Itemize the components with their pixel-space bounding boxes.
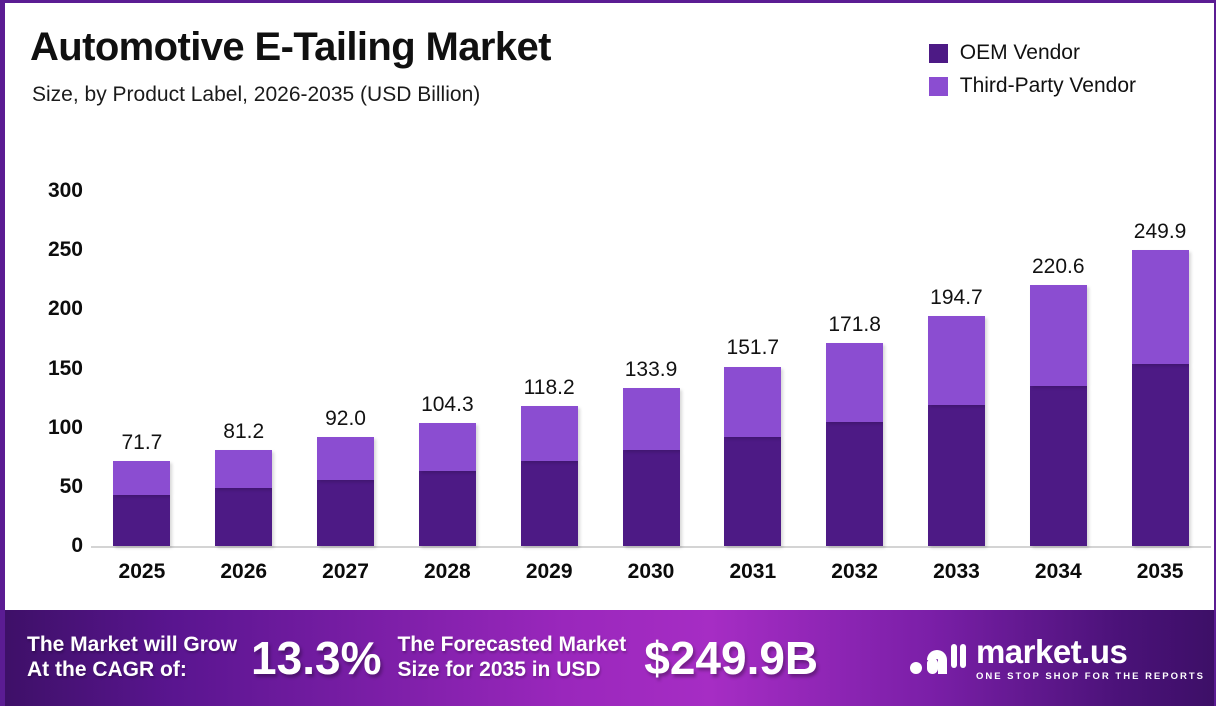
bar-stack[interactable] xyxy=(1030,285,1087,546)
legend-swatch-icon xyxy=(929,77,948,96)
x-axis: 2025202620272028202920302031203220332034… xyxy=(91,550,1211,596)
bar-segment-oem-vendor[interactable] xyxy=(419,471,476,546)
bar-value-label: 71.7 xyxy=(121,431,162,455)
bar-segment-oem-vendor[interactable] xyxy=(317,480,374,546)
bar-segment-oem-vendor[interactable] xyxy=(623,450,680,546)
brand-name: market.us xyxy=(976,635,1205,668)
x-axis-baseline xyxy=(91,546,1211,548)
bar-value-label: 249.9 xyxy=(1134,220,1187,244)
cagr-caption: The Market will Grow At the CAGR of: xyxy=(27,633,237,683)
bar-stack[interactable] xyxy=(419,423,476,546)
bar-value-label: 171.8 xyxy=(828,313,881,337)
bar-stack[interactable] xyxy=(317,437,374,546)
x-axis-tick-label: 2030 xyxy=(628,560,675,584)
bar-segment-oem-vendor[interactable] xyxy=(928,405,985,546)
bar-segment-third-party-vendor[interactable] xyxy=(521,406,578,461)
bar-segment-oem-vendor[interactable] xyxy=(1030,386,1087,546)
bar-stack[interactable] xyxy=(521,406,578,546)
bar-value-label: 151.7 xyxy=(727,336,780,360)
bar-value-label: 104.3 xyxy=(421,393,474,417)
bar-value-label: 81.2 xyxy=(223,420,264,444)
cagr-caption-line2: At the CAGR of: xyxy=(27,658,237,683)
bar-stack[interactable] xyxy=(1132,250,1189,546)
bar-stack[interactable] xyxy=(724,367,781,546)
page-subtitle: Size, by Product Label, 2026-2035 (USD B… xyxy=(32,83,480,107)
x-axis-tick-label: 2025 xyxy=(119,560,166,584)
bar-segment-third-party-vendor[interactable] xyxy=(1132,250,1189,364)
y-axis-tick-label: 300 xyxy=(48,179,83,203)
bar-segment-third-party-vendor[interactable] xyxy=(215,450,272,488)
bar-segment-oem-vendor[interactable] xyxy=(215,488,272,546)
bar-value-label: 194.7 xyxy=(930,286,983,310)
bar-segment-oem-vendor[interactable] xyxy=(521,461,578,546)
brand-text: market.us ONE STOP SHOP FOR THE REPORTS xyxy=(976,635,1205,682)
bar-segment-oem-vendor[interactable] xyxy=(1132,364,1189,546)
bar-segment-third-party-vendor[interactable] xyxy=(724,367,781,437)
bar-stack[interactable] xyxy=(826,343,883,546)
bar-value-label: 92.0 xyxy=(325,407,366,431)
x-axis-tick-label: 2035 xyxy=(1137,560,1184,584)
legend-swatch-icon xyxy=(929,44,948,63)
bar-segment-third-party-vendor[interactable] xyxy=(928,316,985,405)
bar-stack[interactable] xyxy=(215,450,272,546)
bar-segment-oem-vendor[interactable] xyxy=(113,495,170,546)
y-axis-tick-label: 250 xyxy=(48,238,83,262)
bar-value-label: 133.9 xyxy=(625,358,678,382)
bar-segment-oem-vendor[interactable] xyxy=(724,437,781,546)
y-axis-tick-label: 150 xyxy=(48,357,83,381)
y-axis-tick-label: 100 xyxy=(48,416,83,440)
bar-value-label: 118.2 xyxy=(524,376,575,400)
legend-item[interactable]: OEM Vendor xyxy=(929,41,1136,65)
footer-banner: The Market will Grow At the CAGR of: 13.… xyxy=(5,610,1216,706)
cagr-caption-line1: The Market will Grow xyxy=(27,633,237,658)
bar-segment-oem-vendor[interactable] xyxy=(826,422,883,546)
bar-series-container: 71.781.292.0104.3118.2133.9151.7171.8194… xyxy=(91,138,1211,546)
legend-label: Third-Party Vendor xyxy=(960,74,1136,98)
bar-segment-third-party-vendor[interactable] xyxy=(1030,285,1087,386)
x-axis-tick-label: 2027 xyxy=(322,560,369,584)
bar-segment-third-party-vendor[interactable] xyxy=(826,343,883,422)
x-axis-tick-label: 2032 xyxy=(831,560,878,584)
x-axis-tick-label: 2028 xyxy=(424,560,471,584)
x-axis-tick-label: 2033 xyxy=(933,560,980,584)
forecast-value: $249.9B xyxy=(644,631,818,685)
cagr-value: 13.3% xyxy=(251,631,381,685)
y-axis-tick-label: 200 xyxy=(48,297,83,321)
legend-label: OEM Vendor xyxy=(960,41,1080,65)
x-axis-tick-label: 2034 xyxy=(1035,560,1082,584)
forecast-caption-line2: Size for 2035 in USD xyxy=(397,658,626,683)
bar-segment-third-party-vendor[interactable] xyxy=(317,437,374,480)
y-axis: 050100150200250300 xyxy=(5,138,93,558)
y-axis-tick-label: 50 xyxy=(60,475,83,499)
forecast-caption: The Forecasted Market Size for 2035 in U… xyxy=(397,633,626,683)
bar-stack[interactable] xyxy=(928,316,985,546)
bar-segment-third-party-vendor[interactable] xyxy=(113,461,170,494)
bar-segment-third-party-vendor[interactable] xyxy=(419,423,476,472)
bar-stack[interactable] xyxy=(113,461,170,546)
bar-segment-third-party-vendor[interactable] xyxy=(623,388,680,450)
chart-plot-area: 050100150200250300 71.781.292.0104.3118.… xyxy=(5,138,1216,613)
brand-tagline: ONE STOP SHOP FOR THE REPORTS xyxy=(976,671,1205,682)
x-axis-tick-label: 2026 xyxy=(220,560,267,584)
page-title: Automotive E-Tailing Market xyxy=(30,25,551,70)
x-axis-tick-label: 2029 xyxy=(526,560,573,584)
forecast-caption-line1: The Forecasted Market xyxy=(397,633,626,658)
x-axis-tick-label: 2031 xyxy=(729,560,776,584)
legend-item[interactable]: Third-Party Vendor xyxy=(929,74,1136,98)
bar-value-label: 220.6 xyxy=(1032,255,1085,279)
chart-infographic: Automotive E-Tailing Market Size, by Pro… xyxy=(0,0,1216,706)
y-axis-tick-label: 0 xyxy=(71,534,83,558)
chart-legend: OEM VendorThird-Party Vendor xyxy=(929,41,1136,107)
bar-stack[interactable] xyxy=(623,388,680,546)
market-us-logo-icon xyxy=(909,638,967,678)
brand-logo[interactable]: market.us ONE STOP SHOP FOR THE REPORTS xyxy=(909,635,1205,682)
